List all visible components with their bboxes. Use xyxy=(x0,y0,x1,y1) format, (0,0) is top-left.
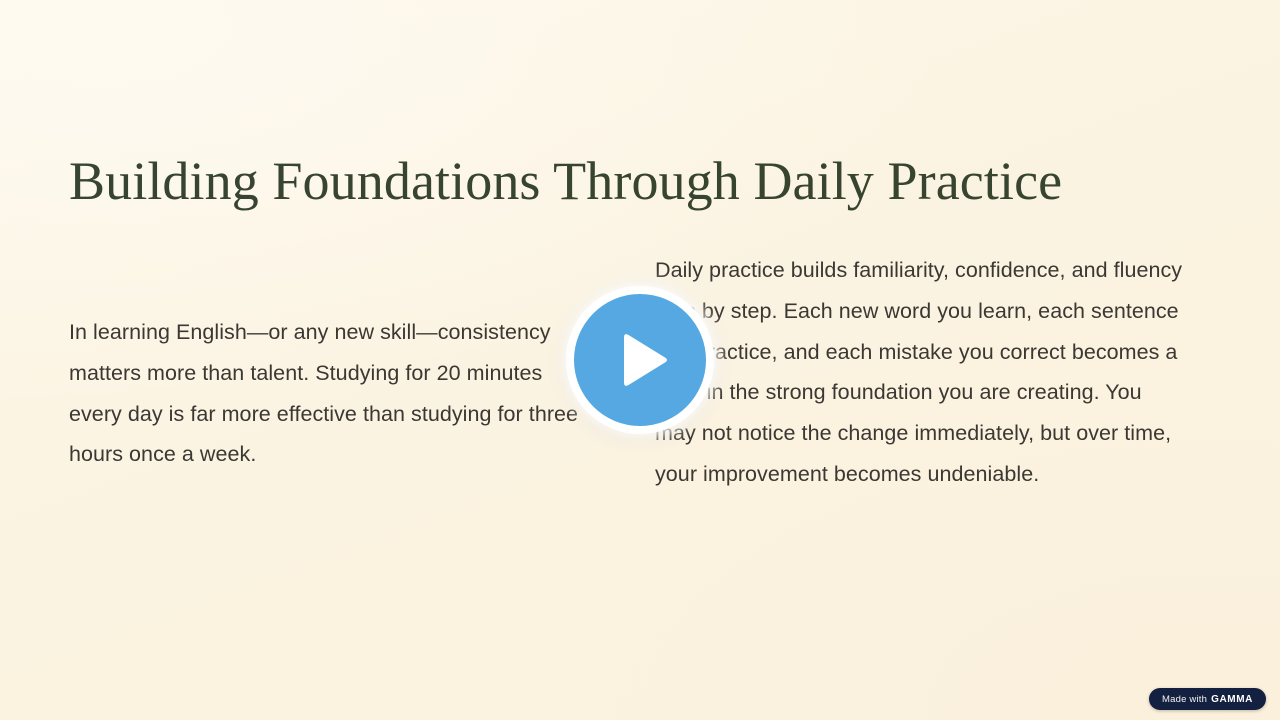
made-with-gamma-badge[interactable]: Made with GAMMA xyxy=(1149,688,1266,710)
play-button-disc xyxy=(574,294,706,426)
slide-canvas: Building Foundations Through Daily Pract… xyxy=(0,0,1280,720)
play-triangle-icon xyxy=(609,331,671,389)
badge-brand-label: GAMMA xyxy=(1211,694,1253,705)
left-column: In learning English—or any new skill—con… xyxy=(69,250,597,495)
right-column-paragraph: Daily practice builds familiarity, confi… xyxy=(655,250,1183,495)
left-column-paragraph: In learning English—or any new skill—con… xyxy=(69,250,597,475)
right-column: Daily practice builds familiarity, confi… xyxy=(655,250,1183,495)
play-button[interactable] xyxy=(566,286,714,434)
page-title: Building Foundations Through Daily Pract… xyxy=(69,150,1189,214)
badge-made-with-label: Made with xyxy=(1162,694,1207,705)
